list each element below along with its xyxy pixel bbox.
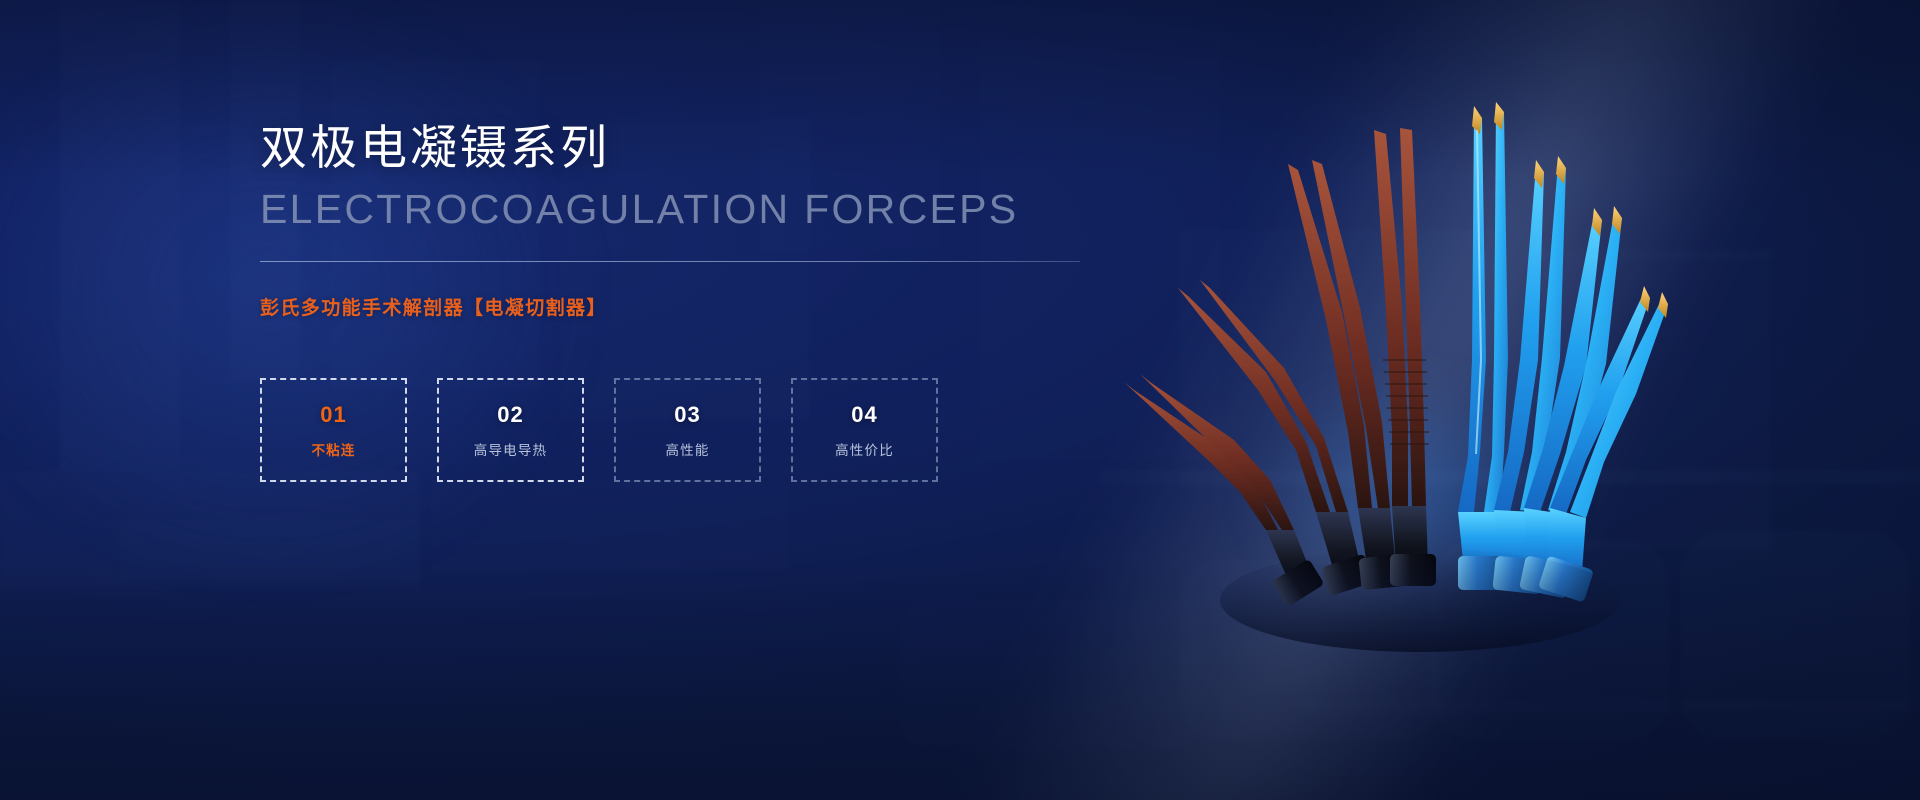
divider [260,261,1080,262]
feature-number: 03 [674,402,700,428]
product-subtitle: 彭氏多功能手术解剖器【电凝切割器】 [260,293,1160,320]
page-title-english: ELECTROCOAGULATION FORCEPS [260,187,1160,233]
feature-label: 高性能 [665,439,709,459]
feature-label: 不粘连 [311,439,355,459]
product-image-forceps [1090,60,1650,620]
feature-number: 04 [851,402,877,428]
product-banner: 双极电凝镊系列 ELECTROCOAGULATION FORCEPS 彭氏多功能… [0,0,1920,800]
feature-card-02[interactable]: 02 高导电导热 [437,378,584,482]
feature-number: 02 [497,402,523,428]
feature-card-01[interactable]: 01 不粘连 [260,378,407,482]
feature-card-04[interactable]: 04 高性价比 [791,378,938,482]
feature-label: 高导电导热 [474,439,548,459]
feature-label: 高性价比 [835,439,894,459]
feature-list: 01 不粘连 02 高导电导热 03 高性能 04 高性价比 [260,378,1160,482]
page-title: 双极电凝镊系列 [260,120,1160,175]
feature-number: 01 [320,402,346,428]
feature-card-03[interactable]: 03 高性能 [614,378,761,482]
banner-content: 双极电凝镊系列 ELECTROCOAGULATION FORCEPS 彭氏多功能… [260,120,1160,482]
